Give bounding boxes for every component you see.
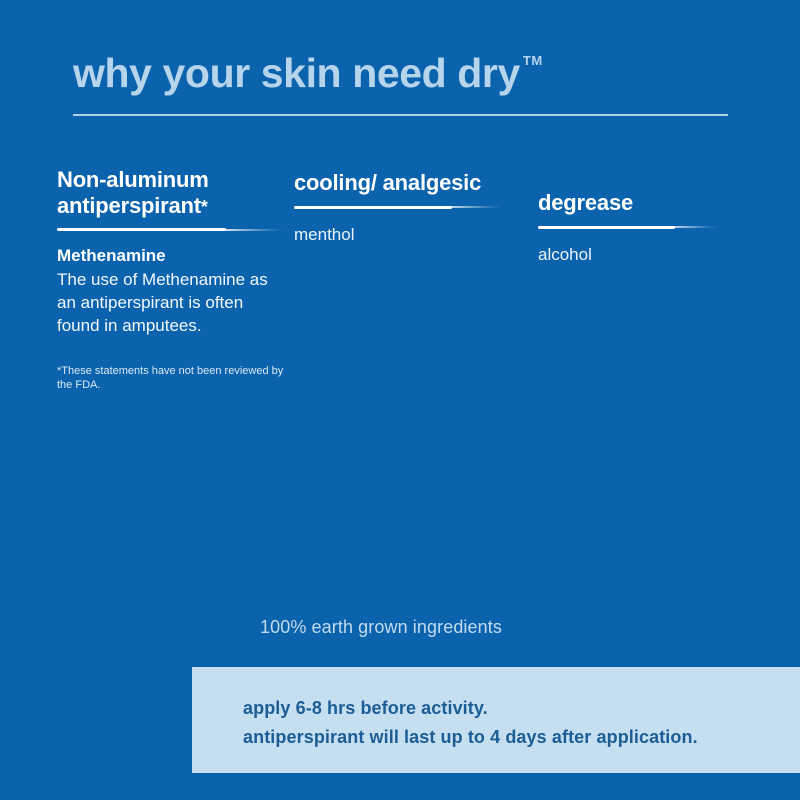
- usage-instructions-panel: apply 6-8 hrs before activity. antipersp…: [192, 667, 800, 773]
- column-brush-underline: [538, 224, 718, 231]
- column-title: degrease: [538, 190, 738, 216]
- column-title: Non-aluminum antiperspirant*: [57, 167, 287, 218]
- usage-instruction-line-2: antiperspirant will last up to 4 days af…: [243, 727, 698, 748]
- column-brush-underline: [57, 226, 285, 233]
- column-brush-underline: [294, 204, 502, 211]
- page-title: why your skin need dryTM: [73, 52, 540, 95]
- headline-divider: [73, 114, 728, 116]
- fda-disclaimer: *These statements have not been reviewed…: [57, 364, 287, 393]
- column-title-text: Non-aluminum antiperspirant: [57, 167, 209, 218]
- page-title-text: why your skin need dry: [73, 50, 520, 96]
- column-ingredient-name: alcohol: [538, 244, 738, 265]
- headline-block: why your skin need dryTM: [73, 52, 729, 95]
- column-title: cooling/ analgesic: [294, 170, 509, 196]
- page-root: { "colors": { "background": "#0A63AC", "…: [0, 0, 800, 800]
- benefit-column-degrease: degrease alcohol: [538, 190, 738, 265]
- trademark-symbol: TM: [523, 53, 543, 68]
- column-title-asterisk: *: [201, 197, 208, 217]
- usage-instruction-line-1: apply 6-8 hrs before activity.: [243, 698, 488, 719]
- column-description: The use of Methenamine as an antiperspir…: [57, 268, 287, 338]
- column-ingredient-name: Methenamine: [57, 245, 287, 266]
- column-ingredient-name: menthol: [294, 224, 509, 245]
- ingredients-tagline: 100% earth grown ingredients: [260, 617, 502, 638]
- benefit-column-cooling-analgesic: cooling/ analgesic menthol: [294, 170, 509, 245]
- benefit-column-non-aluminum: Non-aluminum antiperspirant* Methenamine…: [57, 167, 287, 393]
